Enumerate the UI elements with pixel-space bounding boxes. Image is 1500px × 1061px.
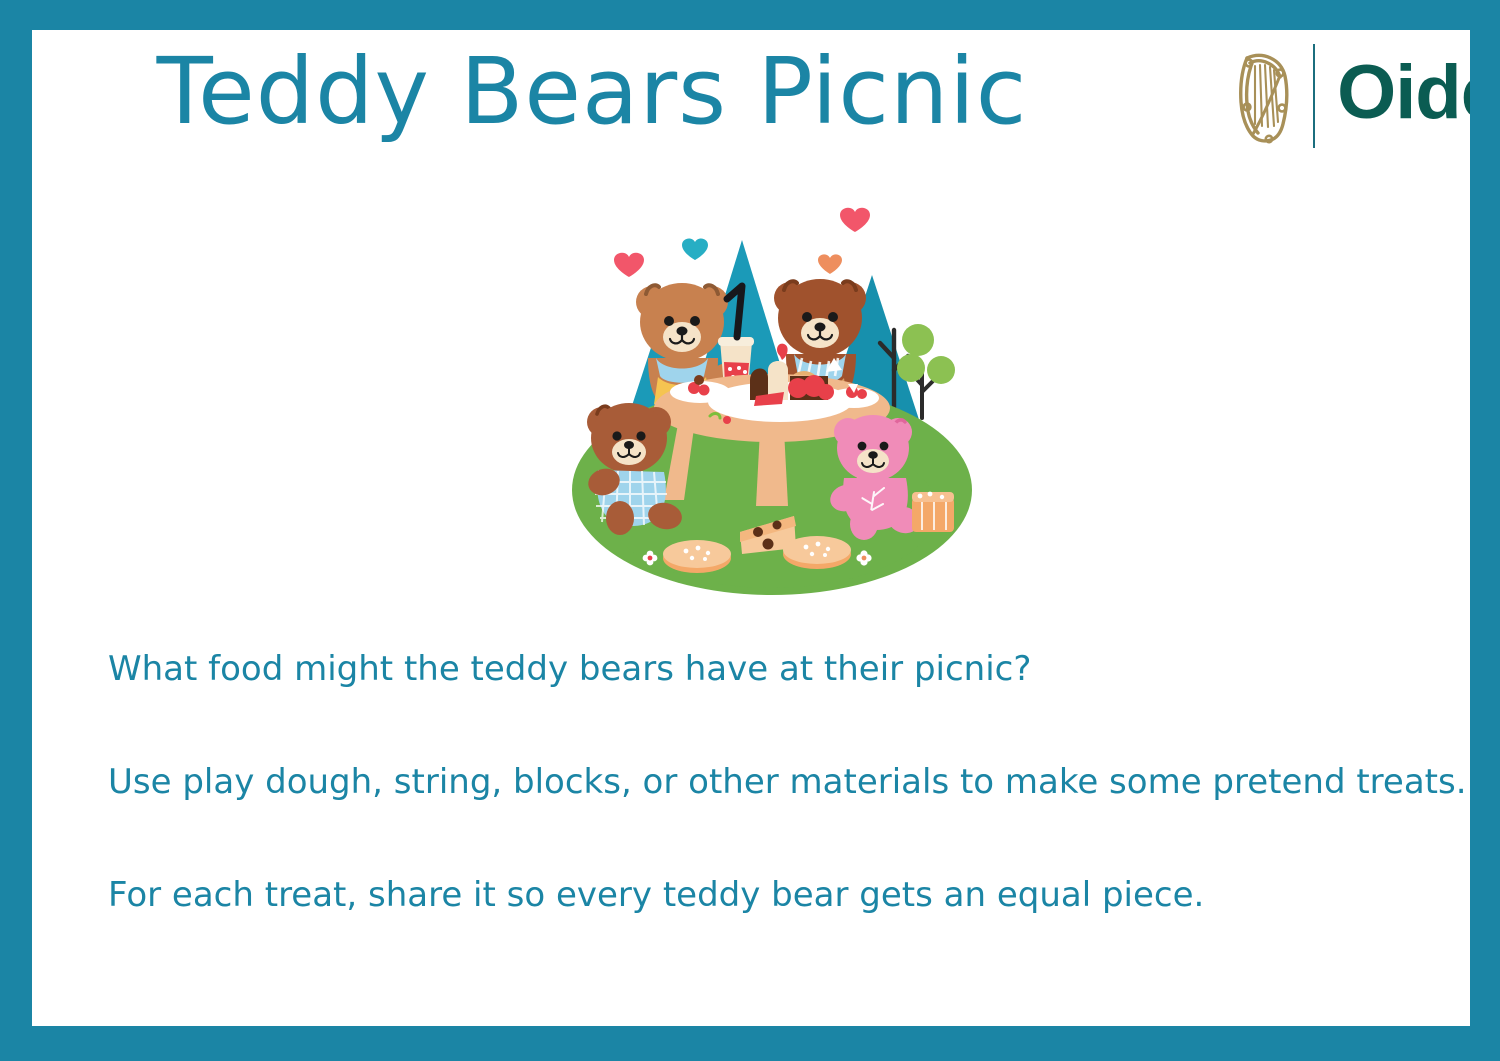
logo-divider bbox=[1313, 44, 1315, 148]
poster-frame: Teddy Bears Picnic bbox=[0, 0, 1500, 1061]
brand-name: Oide bbox=[1337, 55, 1470, 137]
page-title: Teddy Bears Picnic bbox=[32, 38, 1152, 145]
body-line-3: For each treat, share it so every teddy … bbox=[108, 876, 1448, 915]
teddy-bears-picnic-illustration bbox=[552, 180, 992, 600]
poster-page: Teddy Bears Picnic bbox=[32, 30, 1470, 1026]
body-line-1: What food might the teddy bears have at … bbox=[108, 650, 1448, 689]
oide-logo: Oide bbox=[1233, 40, 1470, 152]
body-copy: What food might the teddy bears have at … bbox=[108, 650, 1448, 915]
irish-harp-icon bbox=[1233, 46, 1295, 146]
gift-box bbox=[912, 492, 954, 532]
body-line-2: Use play dough, string, blocks, or other… bbox=[108, 763, 1448, 802]
